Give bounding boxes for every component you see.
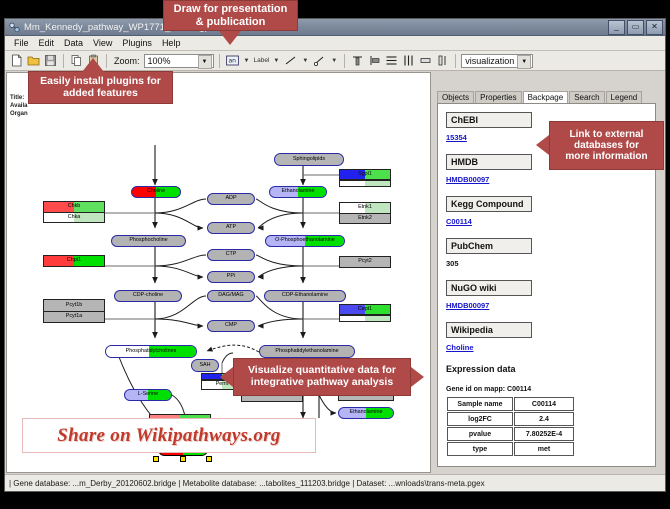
node-label: Pcyt1b <box>66 303 82 308</box>
cell-key: log2FC <box>447 412 513 426</box>
expression-table: Sample name C00114 log2FC 2.4 pvalue 7.8… <box>446 396 575 457</box>
toolbar: Zoom: 100% ▼ an ▼ Label ▼ ▼ ▼ <box>5 51 665 71</box>
menu-item-file[interactable]: File <box>9 38 34 48</box>
db-header-hmdb: HMDB <box>446 154 532 170</box>
side-panel-tabs: Objects Properties Backpage Search Legen… <box>437 90 643 104</box>
share-banner: Share on Wikipathways.org <box>22 418 316 453</box>
pathway-node-ppi[interactable]: PPi <box>207 271 255 283</box>
node-label: Chkb <box>68 204 81 209</box>
align-left-icon[interactable] <box>367 53 382 68</box>
maximize-button[interactable]: ▭ <box>627 20 644 35</box>
toolbar-separator <box>344 54 345 68</box>
callout-line-2: added features <box>63 88 138 100</box>
node-label: ADP <box>225 196 236 201</box>
node-label: O-Phosphoethanolamine <box>275 238 335 243</box>
callout-arrow-down-draw <box>219 31 241 45</box>
align-top-icon[interactable] <box>350 53 365 68</box>
menu-item-edit[interactable]: Edit <box>34 38 60 48</box>
pathway-node-adp[interactable]: ADP <box>207 193 255 205</box>
pathway-node-l-serine-left[interactable]: L-Serine <box>124 389 172 401</box>
save-icon[interactable] <box>43 53 58 68</box>
callout-arrow-right-visualize <box>411 367 424 387</box>
pathway-node-phosphocholine[interactable]: Phosphocholine <box>111 235 186 247</box>
node-label: ATP <box>226 225 236 230</box>
pathway-node-sgpl1[interactable]: Sgpl1 <box>339 169 391 180</box>
status-text: | Gene database: ...m_Derby_20120602.bri… <box>9 479 485 488</box>
node-label: Phosphatidylethanolamine <box>275 349 338 354</box>
line-dropdown-icon[interactable]: ▼ <box>300 58 310 64</box>
close-button[interactable]: ✕ <box>646 20 663 35</box>
pathway-node-pcyt1a[interactable]: Pcyt1a <box>43 311 105 323</box>
pathway-node-sah[interactable]: SAH <box>191 359 219 372</box>
callout-line-1: Draw for presentation <box>174 3 288 15</box>
node-label: CMP <box>225 323 237 328</box>
pathvisio-icon <box>9 22 20 33</box>
pathway-node-ctp[interactable]: CTP <box>207 249 255 261</box>
pathway-node-cept1[interactable]: Cept1 <box>339 304 391 315</box>
node-label: L-Serine <box>138 392 158 397</box>
selection-handle-s[interactable] <box>180 456 186 462</box>
callout-arrow-left-link <box>536 135 549 155</box>
chevron-down-icon[interactable]: ▼ <box>198 55 212 69</box>
db-header-kegg: Kegg Compound <box>446 196 532 212</box>
zoom-value: 100% <box>148 56 171 66</box>
datanode-dropdown-icon[interactable]: ▼ <box>242 58 252 64</box>
callout-visualize-quantitative-data: Visualize quantitative data for integrat… <box>233 358 411 396</box>
callout-line-3: more information <box>565 151 647 162</box>
toolbar-separator <box>63 54 64 68</box>
callout-line-2: databases for <box>574 140 639 151</box>
node-label: Chpt1 <box>67 258 81 263</box>
table-row: Sample name C00114 <box>447 397 574 411</box>
node-label: Etnk2 <box>358 216 372 221</box>
size-width-icon[interactable] <box>418 53 433 68</box>
db-link-hmdb[interactable]: HMDB00097 <box>446 175 649 184</box>
selection-handle-sw[interactable] <box>153 456 159 462</box>
node-label: Sphingolipids <box>293 157 325 162</box>
anchor-icon[interactable] <box>312 53 327 68</box>
node-label: Ethanolamine <box>350 410 383 415</box>
distribute-vertical-icon[interactable] <box>384 53 399 68</box>
menu-item-view[interactable]: View <box>88 38 117 48</box>
menu-item-data[interactable]: Data <box>59 38 88 48</box>
visualization-combo[interactable]: visualization ▼ <box>461 54 533 68</box>
visualization-value: visualization <box>465 56 514 66</box>
callout-line-1: Link to external <box>570 129 644 140</box>
node-label: Pcyt2 <box>358 259 371 264</box>
pathway-node-cdp-ethanolamine[interactable]: CDP-Ethanolamine <box>264 290 346 302</box>
table-row: type met <box>447 442 574 456</box>
selection-handle-se[interactable] <box>206 456 212 462</box>
new-file-icon[interactable] <box>9 53 24 68</box>
node-label: CDP-Ethanolamine <box>282 293 328 298</box>
pathway-node-dag-mag[interactable]: DAG/MAG <box>207 290 255 302</box>
db-link-kegg[interactable]: C00114 <box>446 217 649 226</box>
node-label: Cept1 <box>358 307 372 312</box>
pathway-node-phosphatidylethanolamine[interactable]: Phosphatidylethanolamine <box>259 345 355 358</box>
table-row: pvalue 7.80252E-4 <box>447 427 574 441</box>
status-bar: | Gene database: ...m_Derby_20120602.bri… <box>5 474 665 491</box>
pathway-node-chpt1[interactable]: Chpt1 <box>43 255 105 267</box>
node-label: Pcyt1a <box>66 314 82 319</box>
zoom-label: Zoom: <box>114 56 140 66</box>
size-height-icon[interactable] <box>435 53 450 68</box>
callout-arrow-up-plugins <box>82 58 104 72</box>
line-icon[interactable] <box>283 53 298 68</box>
window-titlebar: Mm_Kennedy_pathway_WP1771_45176.gpml _ ▭… <box>5 19 665 36</box>
cell-key: Sample name <box>447 397 513 411</box>
menubar: File Edit Data View Plugins Help <box>5 36 665 51</box>
db-link-wikipedia[interactable]: Choline <box>446 343 649 352</box>
db-header-pubchem: PubChem <box>446 238 532 254</box>
pathway-node-pcyt2[interactable]: Pcyt2 <box>339 256 391 268</box>
menu-item-plugins[interactable]: Plugins <box>117 38 157 48</box>
node-label: Phosphatidylcholines <box>126 349 177 354</box>
db-link-nugowiki[interactable]: HMDB00097 <box>446 301 649 310</box>
pathway-node-ethanolamine-top[interactable]: Ethanolamine <box>269 186 327 198</box>
chevron-down-icon[interactable]: ▼ <box>517 55 531 69</box>
datanode-icon[interactable]: an <box>225 53 240 68</box>
db-header-wikipedia: Wikipedia <box>446 322 532 338</box>
pathway-canvas[interactable]: Title: Availa Organ <box>6 72 431 473</box>
callout-link-to-external-databases: Link to external databases for more info… <box>549 121 664 170</box>
db-value-pubchem: 305 <box>446 259 649 268</box>
pathway-node-ethanolamine-bottom[interactable]: Ethanolamine <box>338 407 394 419</box>
window-buttons: _ ▭ ✕ <box>608 20 663 35</box>
callout-line-1: Easily install plugins for <box>40 76 161 88</box>
cell-key: type <box>447 442 513 456</box>
callout-draw-for-presentation: Draw for presentation & publication <box>163 0 298 31</box>
db-header-nugowiki: NuGO wiki <box>446 280 532 296</box>
gene-id-line: Gene id on mapp: C00114 <box>446 386 649 393</box>
pathway-node-chka[interactable]: Chka <box>43 212 105 223</box>
pathway-node-sgpl1-lower[interactable] <box>339 180 391 187</box>
callout-easily-install-plugins: Easily install plugins for added feature… <box>28 71 173 104</box>
pathway-node-etnk2[interactable]: Etnk2 <box>339 213 391 224</box>
distribute-horizontal-icon[interactable] <box>401 53 416 68</box>
pathway-node-cept1-lower[interactable] <box>339 315 391 322</box>
pathway-node-cmp[interactable]: CMP <box>207 320 255 332</box>
node-label: PPi <box>227 274 235 279</box>
callout-line-2: & publication <box>196 16 266 28</box>
cell-value: C00114 <box>514 397 574 411</box>
callout-arrow-left-visualize <box>220 367 233 387</box>
minimize-button[interactable]: _ <box>608 20 625 35</box>
node-label: SAH <box>199 363 210 368</box>
node-label: Choline <box>147 189 165 194</box>
node-label: Ethanolamine <box>282 189 315 194</box>
node-label: Sgpl1 <box>358 172 372 177</box>
svg-text:an: an <box>228 58 236 65</box>
zoom-combo[interactable]: 100% ▼ <box>144 54 214 68</box>
expression-data-heading: Expression data <box>446 364 649 374</box>
node-label: CTP <box>226 252 237 257</box>
share-banner-text: Share on Wikipathways.org <box>57 425 280 447</box>
pathway-node-phosphatidylcholines[interactable]: Phosphatidylcholines <box>105 345 197 358</box>
callout-line-2: integrative pathway analysis <box>251 377 393 389</box>
cell-value: met <box>514 442 574 456</box>
toolbar-separator <box>106 54 107 68</box>
pathway-node-choline-top[interactable]: Choline <box>131 186 181 198</box>
cell-value: 7.80252E-4 <box>514 427 574 441</box>
cell-value: 2.4 <box>514 412 574 426</box>
node-label: Etnk1 <box>358 205 372 210</box>
toolbar-separator <box>219 54 220 68</box>
pathway-node-cdp-choline[interactable]: CDP-choline <box>114 290 182 302</box>
pathway-node-atp[interactable]: ATP <box>207 222 255 234</box>
menu-item-help[interactable]: Help <box>157 38 186 48</box>
label-dropdown-icon[interactable]: ▼ <box>271 58 281 64</box>
node-label: Phosphocholine <box>129 238 167 243</box>
node-label: DAG/MAG <box>218 293 243 298</box>
node-label: Chka <box>68 215 81 220</box>
pathway-node-pcyt1b[interactable]: Pcyt1b <box>43 299 105 311</box>
pathway-node-sphingolipids[interactable]: Sphingolipids <box>274 153 344 166</box>
label-tool-label[interactable]: Label <box>253 57 269 64</box>
pathway-node-o-phosphoethanolamine[interactable]: O-Phosphoethanolamine <box>265 235 345 247</box>
pathway-node-chkb[interactable]: Chkb <box>43 201 105 212</box>
toolbar-separator <box>455 54 456 68</box>
db-header-chebi: ChEBI <box>446 112 532 128</box>
pathway-node-etnk1[interactable]: Etnk1 <box>339 202 391 213</box>
anchor-dropdown-icon[interactable]: ▼ <box>329 58 339 64</box>
open-folder-icon[interactable] <box>26 53 41 68</box>
screenshot-root: Mm_Kennedy_pathway_WP1771_45176.gpml _ ▭… <box>0 0 670 509</box>
node-label: CDP-choline <box>133 293 163 298</box>
table-row: log2FC 2.4 <box>447 412 574 426</box>
cell-key: pvalue <box>447 427 513 441</box>
